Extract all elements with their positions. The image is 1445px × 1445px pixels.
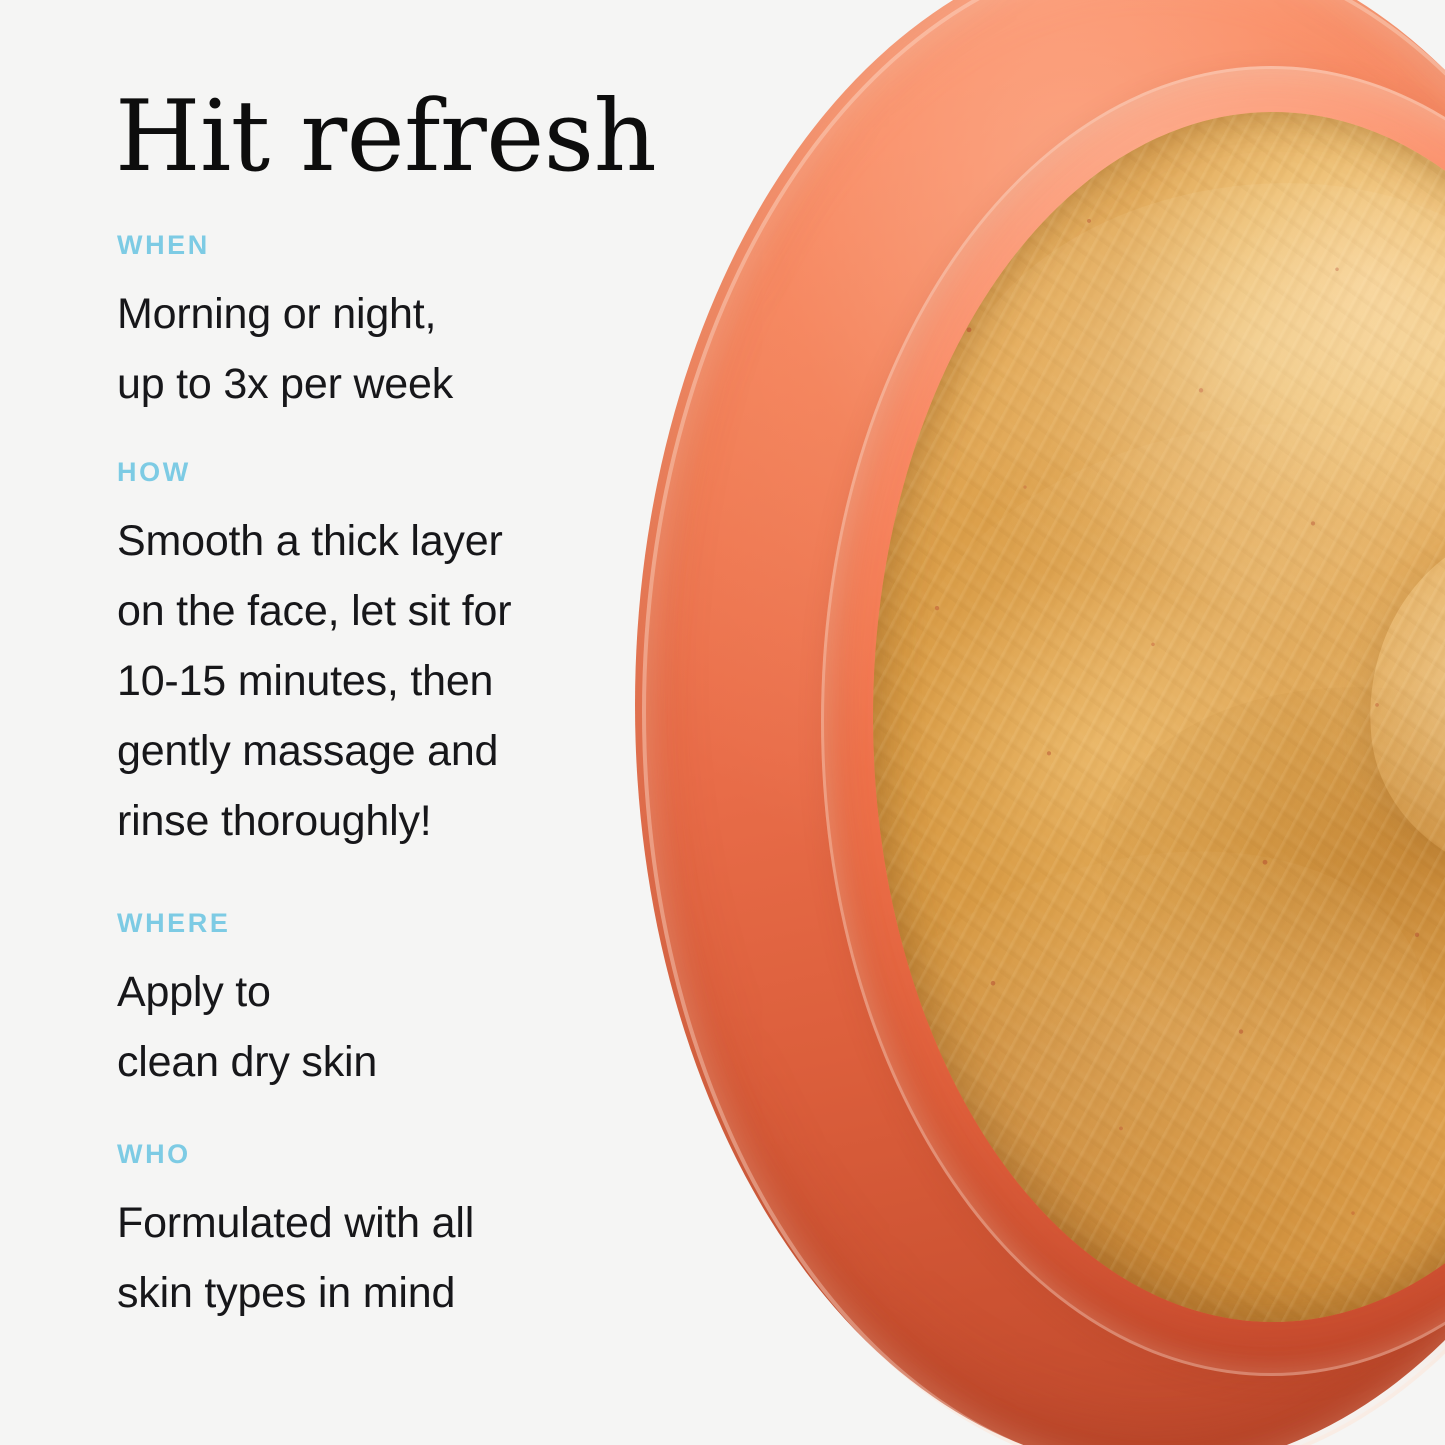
body-line: rinse thoroughly!	[117, 786, 637, 856]
section-body-how: Smooth a thick layer on the face, let si…	[117, 506, 637, 856]
product-photo	[615, 0, 1445, 1445]
section-label-who: WHO	[117, 1141, 637, 1168]
section-how: HOW Smooth a thick layer on the face, le…	[117, 459, 637, 856]
body-line: Formulated with all	[117, 1188, 637, 1258]
section-when: WHEN Morning or night, up to 3x per week	[117, 232, 637, 419]
section-label-when: WHEN	[117, 232, 637, 259]
body-line: up to 3x per week	[117, 349, 637, 419]
mask-peak	[1351, 505, 1445, 904]
section-label-how: HOW	[117, 459, 637, 486]
section-body-when: Morning or night, up to 3x per week	[117, 279, 637, 419]
page-title: Hit refresh	[115, 88, 656, 186]
body-line: Smooth a thick layer	[117, 506, 637, 576]
mask-swirl	[1181, 141, 1445, 542]
body-line: on the face, let sit for	[117, 576, 637, 646]
body-line: skin types in mind	[117, 1258, 637, 1328]
text-panel: Hit refresh WHEN Morning or night, up to…	[0, 0, 640, 1445]
section-body-who: Formulated with all skin types in mind	[117, 1188, 637, 1328]
section-body-where: Apply to clean dry skin	[117, 957, 637, 1097]
body-line: 10-15 minutes, then	[117, 646, 637, 716]
mask-swirl	[873, 376, 1445, 938]
section-who: WHO Formulated with all skin types in mi…	[117, 1141, 637, 1328]
body-line: gently massage and	[117, 716, 637, 786]
body-line: Morning or night,	[117, 279, 637, 349]
instruction-sections: WHEN Morning or night, up to 3x per week…	[117, 232, 637, 1328]
body-line: Apply to	[117, 957, 637, 1027]
section-label-where: WHERE	[117, 910, 637, 937]
body-line: clean dry skin	[117, 1027, 637, 1097]
product-info-graphic: Hit refresh WHEN Morning or night, up to…	[0, 0, 1445, 1445]
section-where: WHERE Apply to clean dry skin	[117, 910, 637, 1097]
